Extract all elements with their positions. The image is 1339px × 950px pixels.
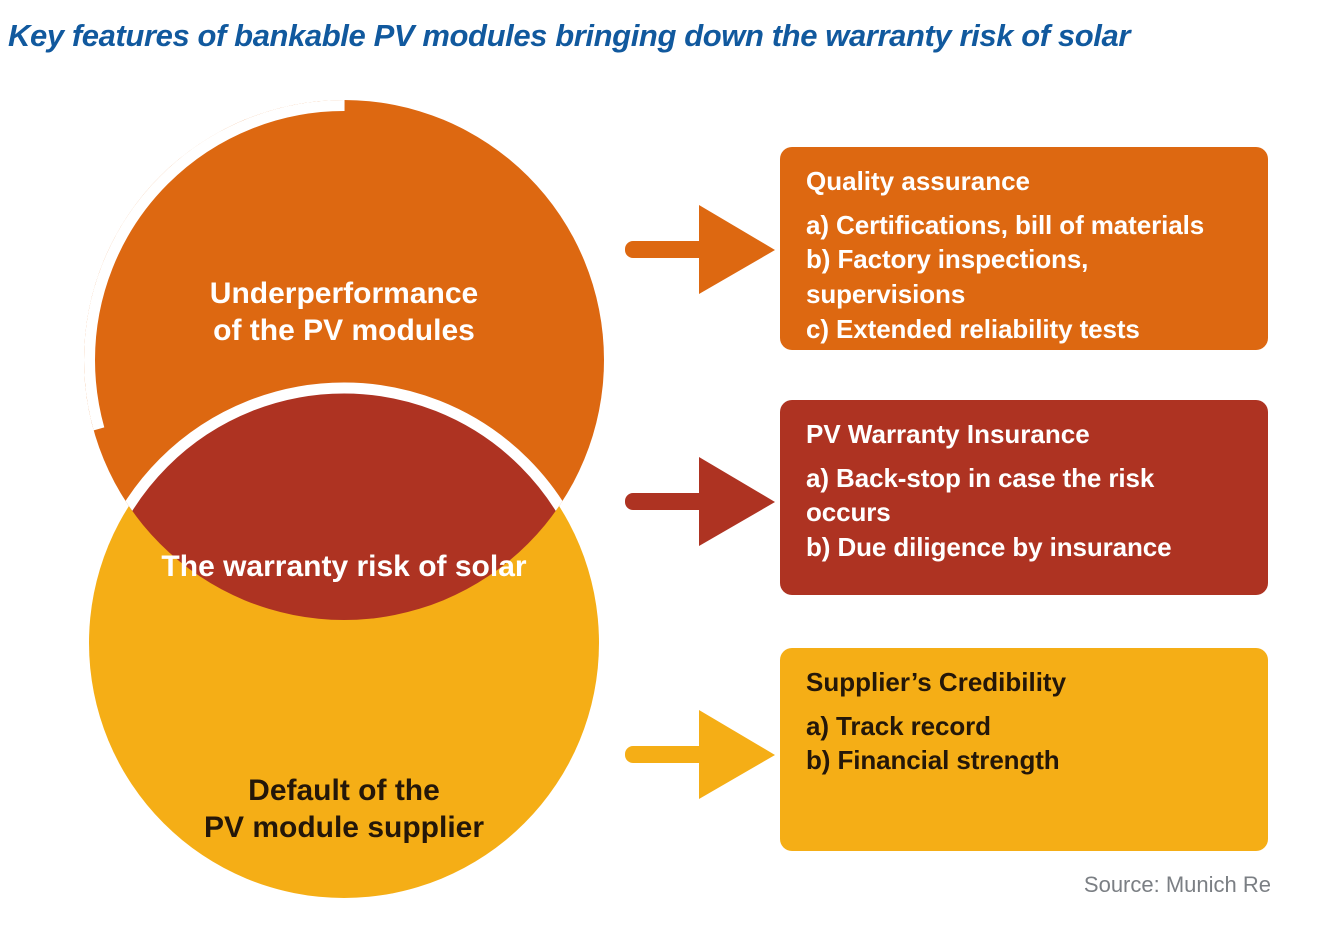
venn-diagram: Underperformance of the PV modules The w…: [0, 70, 700, 930]
panel-item: b) Financial strength: [806, 743, 1242, 778]
panel-title-quality-assurance: Quality assurance: [806, 165, 1242, 199]
page-title: Key features of bankable PV modules brin…: [8, 18, 1328, 54]
panel-item: b) Factory inspections, supervisions: [806, 242, 1242, 311]
arrow-quality-assurance-icon: [620, 195, 780, 305]
panel-pv-warranty-insurance: PV Warranty Insurance a) Back-stop in ca…: [780, 400, 1268, 595]
panel-title-suppliers-credibility: Supplier’s Credibility: [806, 666, 1242, 700]
panel-quality-assurance: Quality assurance a) Certifications, bil…: [780, 147, 1268, 350]
venn-label-warranty-risk: The warranty risk of solar: [84, 548, 604, 585]
arrow-suppliers-credibility-icon: [620, 700, 780, 810]
venn-label-underperformance: Underperformance of the PV modules: [84, 275, 604, 349]
panel-title-pv-warranty-insurance: PV Warranty Insurance: [806, 418, 1242, 452]
panel-item: c) Extended reliability tests: [806, 312, 1242, 347]
panel-suppliers-credibility: Supplier’s Credibility a) Track record b…: [780, 648, 1268, 851]
panel-item: a) Track record: [806, 709, 1242, 744]
source-attribution: Source: Munich Re: [1084, 872, 1271, 898]
panel-item: a) Back-stop in case the risk occurs: [806, 461, 1242, 530]
arrow-pv-warranty-insurance-icon: [620, 447, 780, 557]
panel-item: b) Due diligence by insurance: [806, 530, 1242, 565]
panel-item: a) Certifications, bill of materials: [806, 208, 1242, 243]
venn-label-default-supplier: Default of the PV module supplier: [84, 772, 604, 846]
